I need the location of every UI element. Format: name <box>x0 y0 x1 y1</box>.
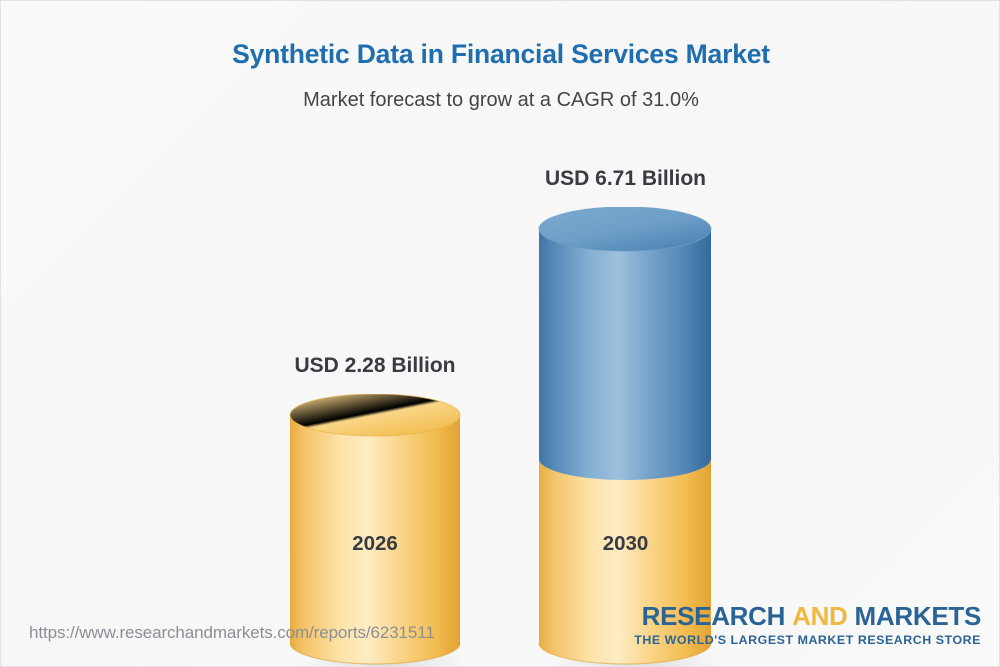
category-label-2026: 2026 <box>289 532 461 556</box>
logo-word-research: RESEARCH <box>642 601 786 631</box>
logo-word-markets: MARKETS <box>855 601 981 631</box>
cylinder-2030-shape <box>538 207 713 667</box>
brand-logo[interactable]: RESEARCHANDMARKETS THE WORLD'S LARGEST M… <box>634 603 981 647</box>
chart-canvas: Synthetic Data in Financial Services Mar… <box>0 0 1000 667</box>
logo-wordmark: RESEARCHANDMARKETS <box>634 603 981 630</box>
value-label-2030: USD 6.71 Billion <box>538 167 713 191</box>
report-url[interactable]: https://www.researchandmarkets.com/repor… <box>29 623 435 643</box>
category-label-2030: 2030 <box>538 532 713 556</box>
plot-area: USD 2.28 Billion <box>1 1 1000 601</box>
logo-word-and: AND <box>792 601 847 631</box>
value-label-2026: USD 2.28 Billion <box>289 354 461 378</box>
bar-cylinder-2030[interactable] <box>538 207 713 667</box>
logo-tagline: THE WORLD'S LARGEST MARKET RESEARCH STOR… <box>634 633 981 647</box>
